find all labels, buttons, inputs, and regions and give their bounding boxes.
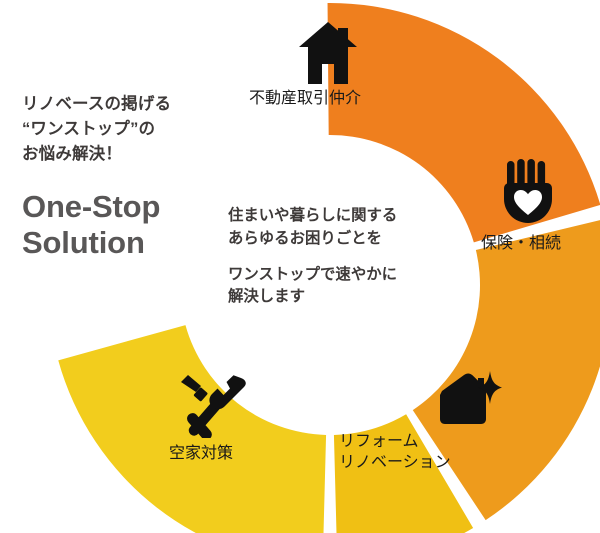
center-paragraph-1-line2: あらゆるお困りごとを [228,228,463,251]
center-paragraph-2-line2: 解決します [228,286,463,309]
center-paragraph-2-line1: ワンストップで速やかに [228,264,463,287]
house-sparkle-icon [434,369,502,427]
segment-label-vacant-house: 空家対策 [169,443,233,464]
left-headline-block: リノベースの掲げる “ワンストップ”の お悩み解決！ One-Stop Solu… [22,92,237,261]
segment-label-insurance: 保険・相続 [481,233,561,254]
segment-label-reform-line1: リフォーム [339,431,451,452]
lead-line-2: “ワンストップ”の [22,117,237,142]
segment-label-real-estate: 不動産取引仲介 [249,88,361,109]
page-title-line1: One-Stop [22,189,160,224]
segment-label-reform-line2: リノベーション [339,452,451,473]
infographic-canvas: 不動産取引仲介 保険・相続 リフォーム リノベーション 空家対策 リノベースの掲… [0,0,600,533]
page-title: One-Stop Solution [22,189,237,261]
center-paragraph-1-line1: 住まいや暮らしに関する [228,205,463,228]
page-title-line2: Solution [22,225,237,261]
segment-label-reform: リフォーム リノベーション [339,431,451,474]
house-icon [295,22,361,84]
lead-line-3: お悩み解決！ [22,142,237,167]
center-paragraph-2: ワンストップで速やかに 解決します [228,264,463,310]
center-paragraph-1: 住まいや暮らしに関する あらゆるお困りごとを [228,205,463,251]
lead-line-1: リノベースの掲げる [22,92,237,117]
center-description-block: 住まいや暮らしに関する あらゆるお困りごとを ワンストップで速やかに 解決します [228,205,463,309]
hammer-wrench-icon [175,372,251,438]
hand-heart-icon [500,159,556,227]
